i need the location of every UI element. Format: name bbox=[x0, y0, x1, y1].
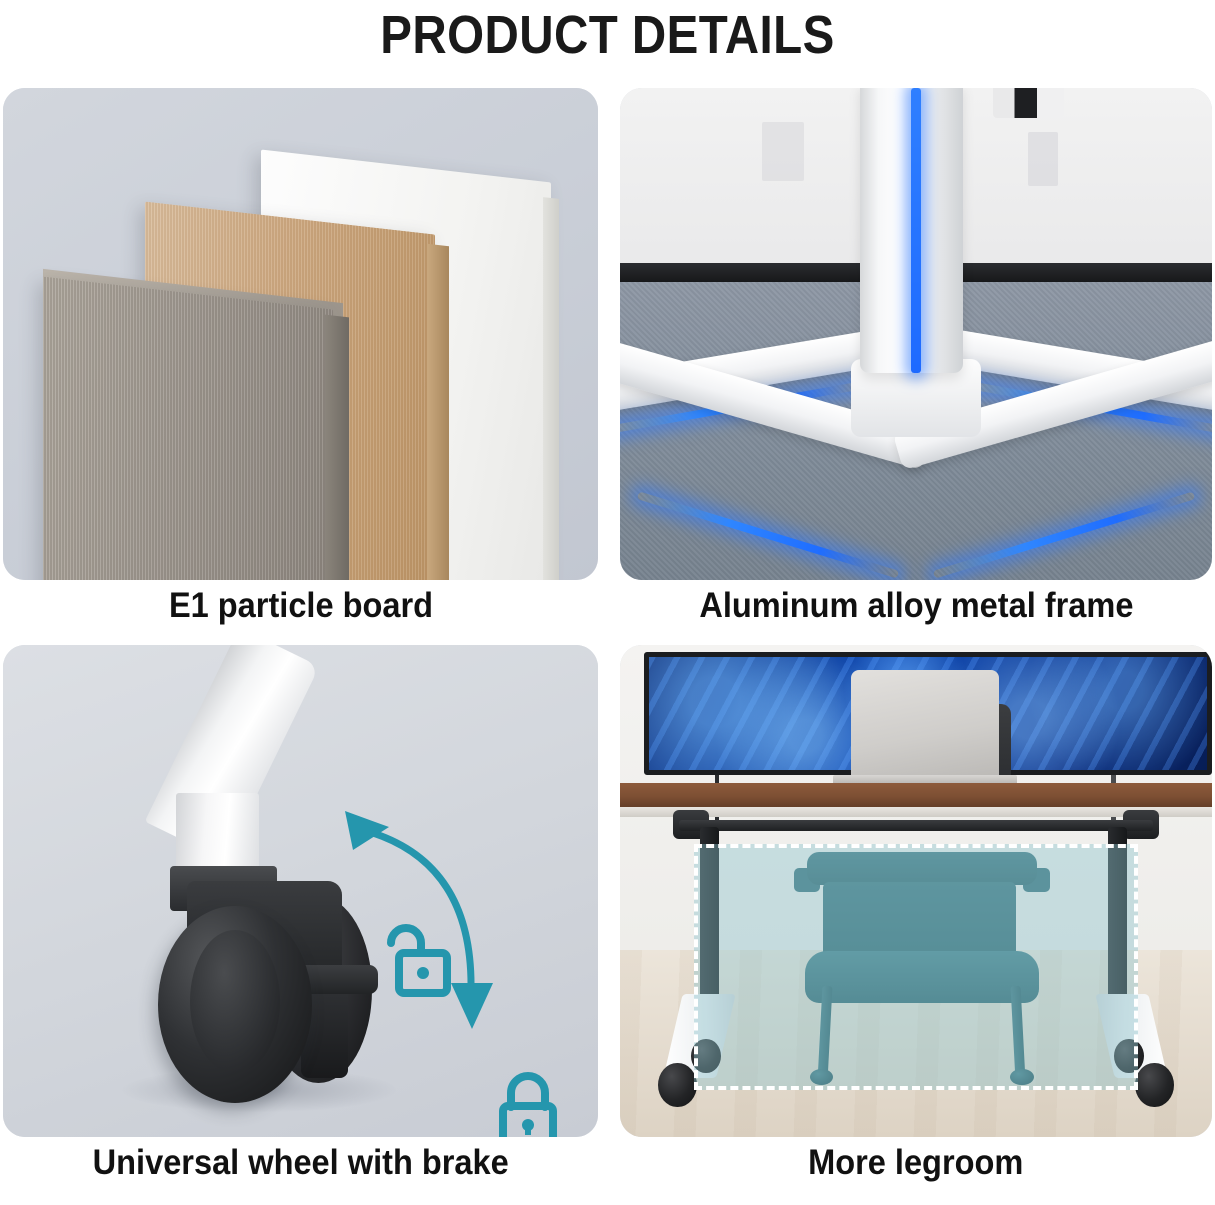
universal-wheel-image bbox=[3, 645, 598, 1137]
curved-arrow-path bbox=[363, 830, 471, 990]
frame-glow-column bbox=[911, 88, 920, 373]
panel-caption: Aluminum alloy metal frame bbox=[620, 586, 1212, 626]
wall-fixture bbox=[993, 88, 1064, 118]
panel-caption: Universal wheel with brake bbox=[3, 1143, 598, 1183]
board-gray bbox=[43, 276, 333, 580]
lock-icon bbox=[503, 1076, 553, 1137]
legroom-highlight-region bbox=[694, 844, 1138, 1090]
particle-board-image bbox=[3, 88, 598, 580]
wall-panel-right bbox=[1028, 132, 1058, 186]
panel-aluminum-frame[interactable]: Aluminum alloy metal frame bbox=[620, 88, 1212, 580]
table-caster-right-front bbox=[1135, 1063, 1173, 1107]
panel-caption-text: Aluminum alloy metal frame bbox=[699, 586, 1133, 626]
arrow-head-down bbox=[451, 983, 493, 1029]
board-gray-edge bbox=[325, 315, 349, 580]
panel-caption-text: E1 particle board bbox=[168, 586, 432, 626]
product-details-page: PRODUCT DETAILS E1 particle board bbox=[0, 0, 1215, 1205]
panel-universal-wheel[interactable]: Universal wheel with brake bbox=[3, 645, 598, 1137]
panel-caption: More legroom bbox=[620, 1143, 1212, 1183]
panel-caption: E1 particle board bbox=[3, 586, 598, 626]
panel-caption-text: More legroom bbox=[808, 1143, 1023, 1183]
panel-caption-text: Universal wheel with brake bbox=[92, 1143, 508, 1183]
aluminum-frame-image bbox=[620, 88, 1212, 580]
wall-panel-left bbox=[762, 122, 803, 181]
arrow-head-up bbox=[345, 811, 389, 850]
panel-particle-board[interactable]: E1 particle board bbox=[3, 88, 598, 580]
product-details-grid: E1 particle board bbox=[0, 78, 1215, 1205]
laptop bbox=[851, 670, 999, 778]
board-oak-edge bbox=[427, 244, 449, 580]
page-title: PRODUCT DETAILS bbox=[73, 0, 1142, 70]
unlock-icon bbox=[391, 928, 447, 993]
desk-top bbox=[620, 783, 1212, 810]
panel-more-legroom[interactable]: More legroom bbox=[620, 645, 1212, 1137]
board-white-edge bbox=[543, 197, 559, 580]
wheel-annotations bbox=[3, 645, 598, 1137]
table-caster-left-front bbox=[658, 1063, 696, 1107]
more-legroom-image bbox=[620, 645, 1212, 1137]
modesty-rail bbox=[679, 820, 1153, 832]
